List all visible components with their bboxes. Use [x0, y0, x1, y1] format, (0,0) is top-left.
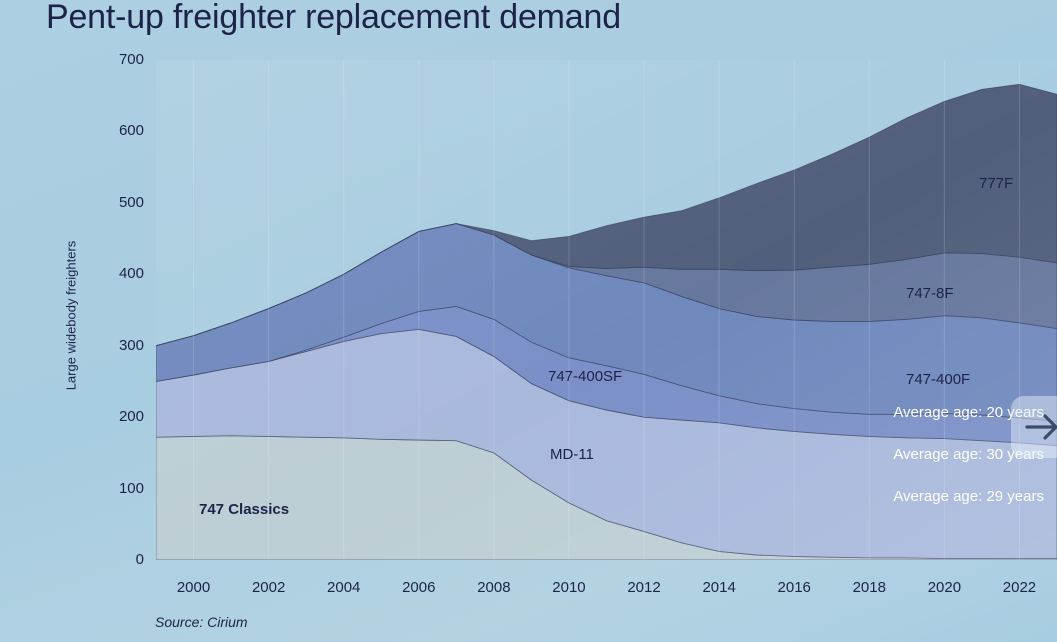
y-tick-600: 600	[96, 123, 144, 138]
x-tick-2014: 2014	[702, 579, 735, 596]
x-tick-2022: 2022	[1003, 579, 1036, 596]
stacked-area-chart: 0100200300400500600700 20002002200420062…	[0, 0, 1057, 642]
slide-root: Pent-up freighter replacement demand 010…	[0, 0, 1057, 642]
y-tick-100: 100	[96, 481, 144, 496]
x-tick-2004: 2004	[327, 579, 360, 596]
x-tick-2000: 2000	[177, 579, 210, 596]
y-tick-300: 300	[96, 338, 144, 353]
chart-plot-svg	[0, 0, 1057, 642]
series-label-747-400f: 747-400F	[906, 371, 970, 388]
arrow-right-icon	[1011, 396, 1057, 458]
x-tick-2012: 2012	[627, 579, 660, 596]
series-label-747-classics: 747 Classics	[199, 501, 289, 518]
source-note: Source: Cirium	[155, 614, 248, 630]
y-tick-500: 500	[96, 195, 144, 210]
series-label-747-8f: 747-8F	[906, 285, 954, 302]
x-tick-2020: 2020	[928, 579, 961, 596]
y-tick-700: 700	[96, 52, 144, 67]
y-tick-0: 0	[96, 552, 144, 567]
x-tick-2018: 2018	[853, 579, 886, 596]
average-age-label-3: Average age: 29 years	[893, 488, 1044, 505]
series-label-777f: 777F	[979, 175, 1013, 192]
y-axis-ticks: 0100200300400500600700	[96, 0, 144, 642]
y-tick-400: 400	[96, 266, 144, 281]
series-label-747-400sf: 747-400SF	[548, 368, 622, 385]
x-tick-2010: 2010	[552, 579, 585, 596]
next-slide-button[interactable]	[1011, 396, 1057, 458]
series-label-md-11: MD-11	[550, 446, 594, 463]
y-axis-label: Large widebody freighters	[64, 226, 79, 406]
x-tick-2016: 2016	[778, 579, 811, 596]
x-axis-ticks: 2000200220042006200820102012201420162018…	[0, 579, 1057, 599]
x-tick-2002: 2002	[252, 579, 285, 596]
x-tick-2006: 2006	[402, 579, 435, 596]
x-tick-2008: 2008	[477, 579, 510, 596]
y-tick-200: 200	[96, 409, 144, 424]
